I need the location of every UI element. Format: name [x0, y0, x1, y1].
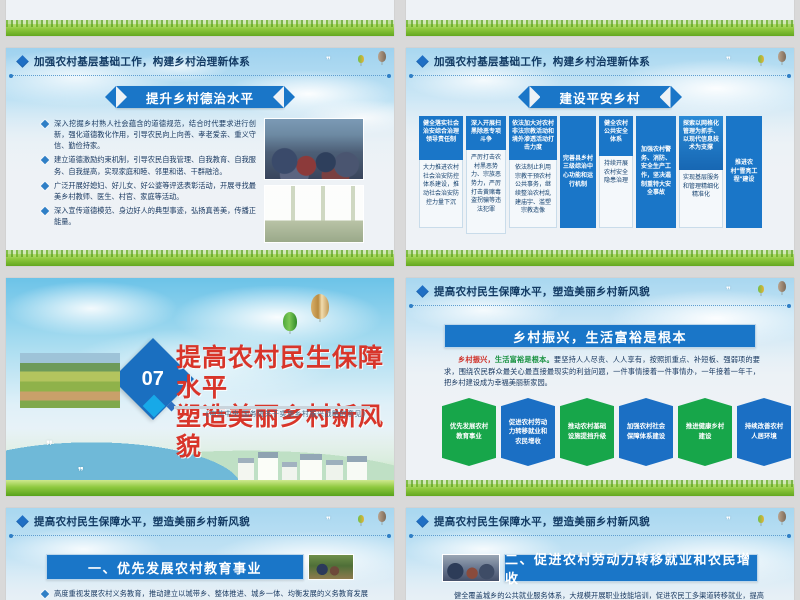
ribbon-notch-right — [660, 86, 671, 108]
column-head: 健全农村公共安全体系 — [599, 116, 633, 156]
header-decoration: ❞ — [718, 279, 788, 305]
slide-thumbnail-4[interactable]: 提高农村民生保障水平，塑造美丽乡村新风貌 ❞ 乡村振兴，生活富裕是根本 乡村振兴… — [406, 278, 794, 496]
column-group: 健全落实社会治安综合治理领导责任制 大力推进农村社会治安防控体系建设，推动社会治… — [419, 116, 762, 234]
hexagon-item: 加强农村社会保障体系建设 — [619, 398, 673, 466]
grass-strip — [406, 484, 794, 496]
column-5: 健全农村公共安全体系 持续开展农村安全隐患治理 — [599, 116, 633, 228]
bird-icon: ❞ — [726, 516, 731, 525]
diamond-bullet-icon — [41, 182, 49, 190]
dove-icon: ❞ — [46, 439, 53, 452]
terraced-field-photo — [20, 353, 120, 408]
section-banner: 乡村振兴，生活富裕是根本 — [444, 324, 756, 348]
header-divider — [412, 305, 788, 306]
ribbon-title-row: 提升乡村德治水平 — [6, 86, 394, 108]
balloon-icon — [358, 515, 364, 523]
column-1: 健全落实社会治安综合治理领导责任制 大力推进农村社会治安防控体系建设，推动社会治… — [419, 116, 463, 228]
slide-thumbnail-5[interactable]: 提高农村民生保障水平，塑造美丽乡村新风貌 ❞ 一、优先发展农村教育事业 高度重视… — [6, 508, 394, 600]
balloon-icon — [778, 511, 786, 522]
balloon-icon — [758, 55, 764, 63]
section-number: 07 — [142, 368, 164, 391]
column-3: 依法加大对农村非法宗教活动和境外渗透活动打击力度 依法制止利用宗教干预农村公共事… — [509, 116, 557, 228]
header-title: 提高农村民生保障水平，塑造美丽乡村新风貌 — [434, 284, 650, 299]
paragraph-emphasis-red: 乡村振兴， — [458, 355, 495, 364]
diamond-bullet-icon — [416, 285, 429, 298]
bird-icon: ❞ — [726, 56, 731, 65]
section-banner: 二、促进农村劳动力转移就业和农民增收 — [504, 554, 758, 582]
slide-thumbnail-partial-left[interactable]: 清理上级对村级组织考核评比多、创建达标多、检查督查多等突出问题，维护村民委员会、… — [6, 0, 394, 36]
bird-icon: ❞ — [726, 286, 731, 295]
diamond-bullet-icon — [16, 515, 29, 528]
cover-title: 提高农村民生保障水平 塑造美丽乡村新风貌 — [176, 344, 394, 462]
hexagon-item: 推动农村基础设施提挡升级 — [560, 398, 614, 466]
column-body: 严厉打击农村黑恶势力、宗族恶势力，严厉打击黄赌毒盗拐骗等违法犯罪 — [466, 150, 506, 234]
column-4: 完善县乡村三级综治中心功能和运行机制 — [560, 116, 596, 228]
column-6: 加强农村警务、消防、安全生产工作，坚决遏制重特大安全事故 — [636, 116, 676, 228]
balloon-icon — [358, 55, 364, 63]
body-paragraph: 乡村振兴，生活富裕是根本。要坚持人人尽责、人人享有，按照抓重点、补短板、强弱项的… — [444, 354, 760, 389]
ribbon-title: 建设平安乡村 — [529, 86, 670, 108]
slide-thumbnail-grid: 清理上级对村级组织考核评比多、创建达标多、检查督查多等突出问题，维护村民委员会、… — [0, 0, 800, 600]
header-decoration: ❞ — [318, 509, 388, 535]
list-item: 深入挖掘乡村熟人社会蕴含的道德规范，结合时代要求进行创新，强化道德教化作用，引导… — [42, 118, 256, 151]
header-divider — [12, 535, 388, 536]
balloon-icon — [283, 312, 297, 331]
list-item-text: 建立道德激励约束机制，引导农民自我管理、自我教育、自我服务、自我提高，实现家庭和… — [54, 154, 256, 176]
header-decoration: ❞ — [318, 49, 388, 75]
header-title: 提高农村民生保障水平，塑造美丽乡村新风貌 — [34, 514, 250, 529]
ribbon-notch-left — [529, 86, 540, 108]
column-2: 深入开展扫黑除恶专项斗争 严厉打击农村黑恶势力、宗族恶势力，严厉打击黄赌毒盗拐骗… — [466, 116, 506, 234]
slide-cell-partial-left[interactable]: 清理上级对村级组织考核评比多、创建达标多、检查督查多等突出问题，维护村民委员会、… — [0, 0, 400, 42]
list-item-text: 高度重视发展农村义务教育，推动建立以城带乡、整体推进、城乡一体、均衡发展的义务教… — [54, 588, 368, 600]
balloon-icon — [778, 281, 786, 292]
column-head: 推进农村"雪亮工程"建设 — [726, 116, 762, 228]
dove-icon: ❞ — [78, 467, 84, 478]
list-item-text: 深入宣传道德模范、身边好人的典型事迹，弘扬真善美，传播正能量。 — [54, 205, 256, 227]
slide-thumbnail-partial-right[interactable]: 加强农村公共法律服务体系建设 加强农村公共法律服务体系建设和法治教育。 — [406, 0, 794, 36]
header-decoration: ❞ — [718, 49, 788, 75]
bird-icon: ❞ — [326, 516, 331, 525]
hexagon-item: 推进健康乡村建设 — [678, 398, 732, 466]
slide-cell-5[interactable]: 提高农村民生保障水平，塑造美丽乡村新风貌 ❞ 一、优先发展农村教育事业 高度重视… — [0, 502, 400, 600]
header-divider — [12, 75, 388, 76]
bullet-list: 深入挖掘乡村熟人社会蕴含的道德规范，结合时代要求进行创新，强化道德教化作用，引导… — [42, 118, 256, 230]
slide-cell-partial-right[interactable]: 加强农村公共法律服务体系建设 加强农村公共法律服务体系建设和法治教育。 — [400, 0, 800, 42]
village-meeting-photo — [264, 118, 364, 180]
slide-thumbnail-2[interactable]: 加强农村基层基础工作，构建乡村治理新体系 ❞ 建设平安乡村 健全落实社会治安综合… — [406, 48, 794, 266]
balloon-icon — [378, 51, 386, 62]
slide-cell-3[interactable]: ❞ ❞ 07 提高农村民生保障水平 塑造美丽乡村新风貌 《中共中央 国务院关于实… — [0, 272, 400, 502]
header-title: 提高农村民生保障水平，塑造美丽乡村新风貌 — [434, 514, 650, 529]
paragraph-emphasis-green: 生活富裕是根本。 — [495, 355, 554, 364]
column-head: 探索以网格化管理为抓手、以现代信息技术为支撑 — [679, 116, 723, 170]
list-item: 广泛开展好媳妇、好儿女、好公婆等评选表彰活动，开展寻找最美乡村教师、医生、村官、… — [42, 180, 256, 202]
grass-strip — [406, 24, 794, 36]
bird-icon: ❞ — [326, 56, 331, 65]
diamond-bullet-icon — [41, 590, 49, 598]
job-fair-photo — [442, 554, 500, 582]
hexagon-item: 持续改善农村人居环境 — [737, 398, 791, 466]
ribbon-notch-right — [273, 86, 284, 108]
ribbon-title: 提升乡村德治水平 — [116, 86, 284, 108]
column-8: 推进农村"雪亮工程"建设 — [726, 116, 762, 228]
ribbon-title-text: 建设平安乡村 — [559, 88, 640, 107]
column-head: 依法加大对农村非法宗教活动和境外渗透活动打击力度 — [509, 116, 557, 160]
slide-thumbnail-1[interactable]: 加强农村基层基础工作，构建乡村治理新体系 ❞ 提升乡村德治水平 — [6, 48, 394, 266]
bullet-list: 高度重视发展农村义务教育，推动建立以城带乡、整体推进、城乡一体、均衡发展的义务教… — [42, 588, 368, 600]
diamond-bullet-icon — [41, 120, 49, 128]
column-head: 加强农村警务、消防、安全生产工作，坚决遏制重特大安全事故 — [636, 116, 676, 228]
diamond-bullet-icon — [416, 515, 429, 528]
section-banner: 一、优先发展农村教育事业 — [46, 554, 304, 580]
header-title: 加强农村基层基础工作，构建乡村治理新体系 — [434, 54, 650, 69]
header-title: 加强农村基层基础工作，构建乡村治理新体系 — [34, 54, 250, 69]
column-7: 探索以网格化管理为抓手、以现代信息技术为支撑 实现基层服务和管理精细化精准化 — [679, 116, 723, 228]
diamond-bullet-icon — [41, 207, 49, 215]
balloon-icon — [311, 294, 329, 319]
cover-title-line-1: 提高农村民生保障水平 — [176, 344, 394, 403]
grass-strip — [406, 254, 794, 266]
column-head: 深入开展扫黑除恶专项斗争 — [466, 116, 506, 150]
ribbon-title-row: 建设平安乡村 — [406, 86, 794, 108]
column-body: 实现基层服务和管理精细化精准化 — [679, 170, 723, 228]
column-head: 健全落实社会治安综合治理领导责任制 — [419, 116, 463, 160]
slide-cell-4[interactable]: 提高农村民生保障水平，塑造美丽乡村新风貌 ❞ 乡村振兴，生活富裕是根本 乡村振兴… — [400, 272, 800, 502]
slide-cell-2[interactable]: 加强农村基层基础工作，构建乡村治理新体系 ❞ 建设平安乡村 健全落实社会治安综合… — [400, 42, 800, 272]
rural-students-photo — [308, 554, 354, 580]
balloon-icon — [758, 515, 764, 523]
list-item: 深入宣传道德模范、身边好人的典型事迹，弘扬真善美，传播正能量。 — [42, 205, 256, 227]
slide-cell-1[interactable]: 加强农村基层基础工作，构建乡村治理新体系 ❞ 提升乡村德治水平 — [0, 42, 400, 272]
list-item: 高度重视发展农村义务教育，推动建立以城带乡、整体推进、城乡一体、均衡发展的义务教… — [42, 588, 368, 600]
ribbon-title-text: 提升乡村德治水平 — [146, 88, 254, 107]
grass-strip — [6, 24, 394, 36]
balloon-icon — [378, 511, 386, 522]
balloon-icon — [758, 285, 764, 293]
list-item-text: 广泛开展好媳妇、好儿女、好公婆等评选表彰活动，开展寻找最美乡村教师、医生、村官、… — [54, 180, 256, 202]
hexagon-item: 优先发展农村教育事业 — [442, 398, 496, 466]
list-item: 建立道德激励约束机制，引导农民自我管理、自我教育、自我服务、自我提高，实现家庭和… — [42, 154, 256, 176]
header-divider — [412, 535, 788, 536]
list-item-text: 深入挖掘乡村熟人社会蕴含的道德规范，结合时代要求进行创新，强化道德教化作用，引导… — [54, 118, 256, 151]
diamond-bullet-icon — [41, 156, 49, 164]
header-decoration: ❞ — [718, 509, 788, 535]
slide-thumbnail-3-cover[interactable]: ❞ ❞ 07 提高农村民生保障水平 塑造美丽乡村新风貌 《中共中央 国务院关于实… — [6, 278, 394, 496]
hexagon-item: 促进农村劳动力转移就业和农民增收 — [501, 398, 555, 466]
slide-cell-6[interactable]: 提高农村民生保障水平，塑造美丽乡村新风貌 ❞ 二、促进农村劳动力转移就业和农民增… — [400, 502, 800, 600]
body-paragraph: 健全覆盖城乡的公共就业服务体系，大规模开展职业技能培训，促进农民工多渠道转移就业… — [454, 590, 764, 600]
column-body: 持续开展农村安全隐患治理 — [599, 156, 633, 228]
ribbon-notch-left — [116, 86, 127, 108]
balloon-icon — [778, 51, 786, 62]
cover-subtitle: 《中共中央 国务院关于实施乡村振兴战略的意见》 — [202, 409, 369, 419]
diamond-bullet-icon — [416, 55, 429, 68]
slide-thumbnail-6[interactable]: 提高农村民生保障水平，塑造美丽乡村新风貌 ❞ 二、促进农村劳动力转移就业和农民增… — [406, 508, 794, 600]
hexagon-row: 优先发展农村教育事业 促进农村劳动力转移就业和农民增收 推动农村基础设施提挡升级… — [442, 398, 791, 466]
column-body: 大力推进农村社会治安防控体系建设，推动社会治安防控力量下沉 — [419, 160, 463, 228]
grass-strip — [6, 480, 394, 496]
grass-strip — [6, 254, 394, 266]
header-divider — [412, 75, 788, 76]
column-body: 依法制止利用宗教干预农村公共事务，继续整治农村乱建庙宇、滥塑宗教造像 — [509, 160, 557, 228]
column-head: 完善县乡村三级综治中心功能和运行机制 — [560, 116, 596, 228]
diamond-bullet-icon — [16, 55, 29, 68]
culture-wall-photo — [264, 185, 364, 243]
